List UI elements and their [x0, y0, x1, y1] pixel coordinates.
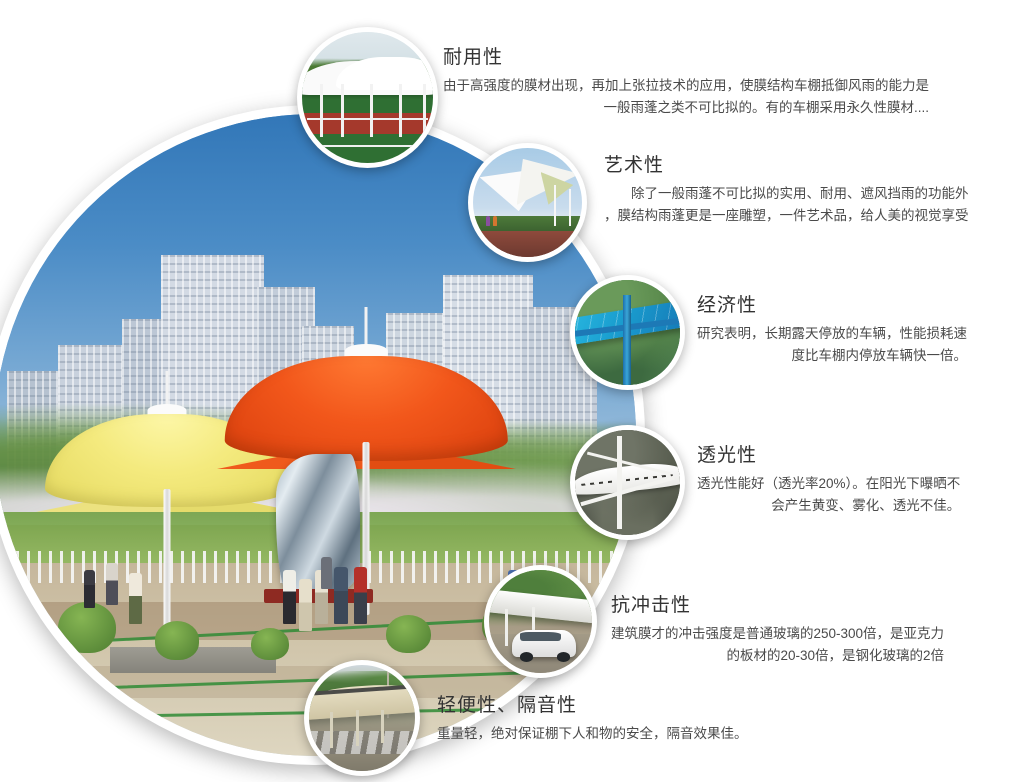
sail-shade-photo — [473, 148, 582, 257]
support-post — [370, 84, 373, 136]
feature-title-economy: 经济性 — [697, 290, 967, 317]
feature-desc-line: 会产生黄变、雾化、透光不佳。 — [697, 495, 960, 517]
pedestrian — [354, 567, 367, 625]
court-line — [307, 118, 428, 120]
support-post — [505, 609, 508, 646]
feature-thumb-artistry[interactable] — [468, 143, 587, 262]
feature-desc-line: 度比车棚内停放车辆快一倍。 — [697, 345, 967, 367]
feature-desc-line: ，膜结构雨蓬更是一座雕塑，一件艺术品，给人美的视觉享受 — [604, 205, 969, 227]
white-membrane-photo — [575, 430, 680, 535]
feature-title-translucency: 透光性 — [697, 440, 960, 467]
feature-title-impact-resistance: 抗冲击性 — [611, 590, 944, 617]
steel-column — [623, 295, 631, 385]
support-pole — [554, 185, 556, 226]
tennis-court-canopy-photo — [302, 32, 433, 163]
support-post — [356, 710, 359, 746]
blue-steel-canopy-photo — [575, 280, 680, 385]
feature-desc-line: 研究表明，长期露天停放的车辆，性能损耗速 — [697, 323, 967, 345]
feature-desc-line: 由于高强度的膜材出现，再加上张拉技术的应用，使膜结构车棚抵御风雨的能力是 — [443, 75, 929, 97]
feature-thumb-impact-resistance[interactable] — [484, 565, 597, 678]
feature-text-artistry: 艺术性 除了一般雨蓬不可比拟的实用、耐用、遮风挡雨的功能外 ，膜结构雨蓬更是一座… — [604, 150, 969, 227]
feature-thumb-lightweight-soundproof[interactable] — [304, 660, 420, 776]
support-post — [341, 84, 344, 136]
support-post — [399, 84, 402, 136]
feature-text-economy: 经济性 研究表明，长期露天停放的车辆，性能损耗速 度比车棚内停放车辆快一倍。 — [697, 290, 967, 367]
feature-title-durability: 耐用性 — [443, 42, 929, 69]
running-track — [473, 231, 582, 257]
support-pole — [569, 189, 571, 226]
feature-text-impact-resistance: 抗冲击性 建筑膜才的冲击强度是普通玻璃的250-300倍，是亚克力 的板材的20… — [611, 590, 944, 667]
support-post — [330, 712, 333, 748]
feature-thumb-economy[interactable] — [570, 275, 685, 390]
carport-suv-photo — [489, 570, 592, 673]
car-window — [520, 632, 561, 641]
feature-thumb-durability[interactable] — [297, 27, 438, 168]
feature-desc-line: 建筑膜才的冲击强度是普通玻璃的250-300倍，是亚克力 — [611, 623, 944, 645]
pedestrian — [299, 579, 312, 630]
feature-title-artistry: 艺术性 — [604, 150, 969, 177]
pedestrian — [493, 216, 497, 227]
feature-desc-line: 重量轻，绝对保证棚下人和物的安全，隔音效果佳。 — [437, 723, 748, 745]
car-wheel — [557, 652, 570, 661]
canopy-finial — [166, 371, 169, 407]
pedestrian — [129, 573, 142, 624]
feature-desc-line: 除了一般雨蓬不可比拟的实用、耐用、遮风挡雨的功能外 — [604, 183, 969, 205]
feature-text-translucency: 透光性 透光性能好（透光率20%）。在阳光下曝晒不 会产生黄变、雾化、透光不佳。 — [697, 440, 960, 517]
shrub — [155, 621, 200, 660]
pedestrian — [84, 570, 95, 609]
feature-title-lightweight-soundproof: 轻便性、隔音性 — [437, 690, 748, 717]
shrub — [58, 602, 116, 653]
support-post — [423, 84, 426, 136]
pedestrian — [486, 216, 490, 227]
feature-desc-line: 的板材的20-30倍，是钢化玻璃的2倍 — [611, 645, 944, 667]
canopy-finial — [365, 307, 368, 347]
feature-text-lightweight-soundproof: 轻便性、隔音性 重量轻，绝对保证棚下人和物的安全，隔音效果佳。 — [437, 690, 748, 745]
support-post — [320, 84, 323, 136]
beige-carport-rows-photo — [309, 665, 415, 771]
pedestrian — [321, 557, 332, 589]
feature-desc-line: 透光性能好（透光率20%）。在阳光下曝晒不 — [697, 473, 960, 495]
feature-desc-line: 一般雨蓬之类不可比拟的。有的车棚采用永久性膜材.... — [443, 97, 929, 119]
support-post — [381, 710, 384, 744]
support-arm — [617, 436, 622, 528]
pedestrian — [106, 563, 118, 605]
court-line — [307, 145, 428, 147]
pedestrian — [334, 567, 347, 625]
parked-cars-row — [309, 731, 415, 754]
car-wheel — [520, 652, 533, 661]
infographic-canvas: 耐用性 由于高强度的膜材出现，再加上张拉技术的应用，使膜结构车棚抵御风雨的能力是… — [0, 0, 1023, 782]
feature-text-durability: 耐用性 由于高强度的膜材出现，再加上张拉技术的应用，使膜结构车棚抵御风雨的能力是… — [443, 42, 929, 119]
shrub — [386, 615, 431, 654]
feature-thumb-translucency[interactable] — [570, 425, 685, 540]
canopy-mast — [164, 489, 171, 628]
pedestrian — [283, 570, 296, 625]
shrub — [251, 628, 290, 660]
